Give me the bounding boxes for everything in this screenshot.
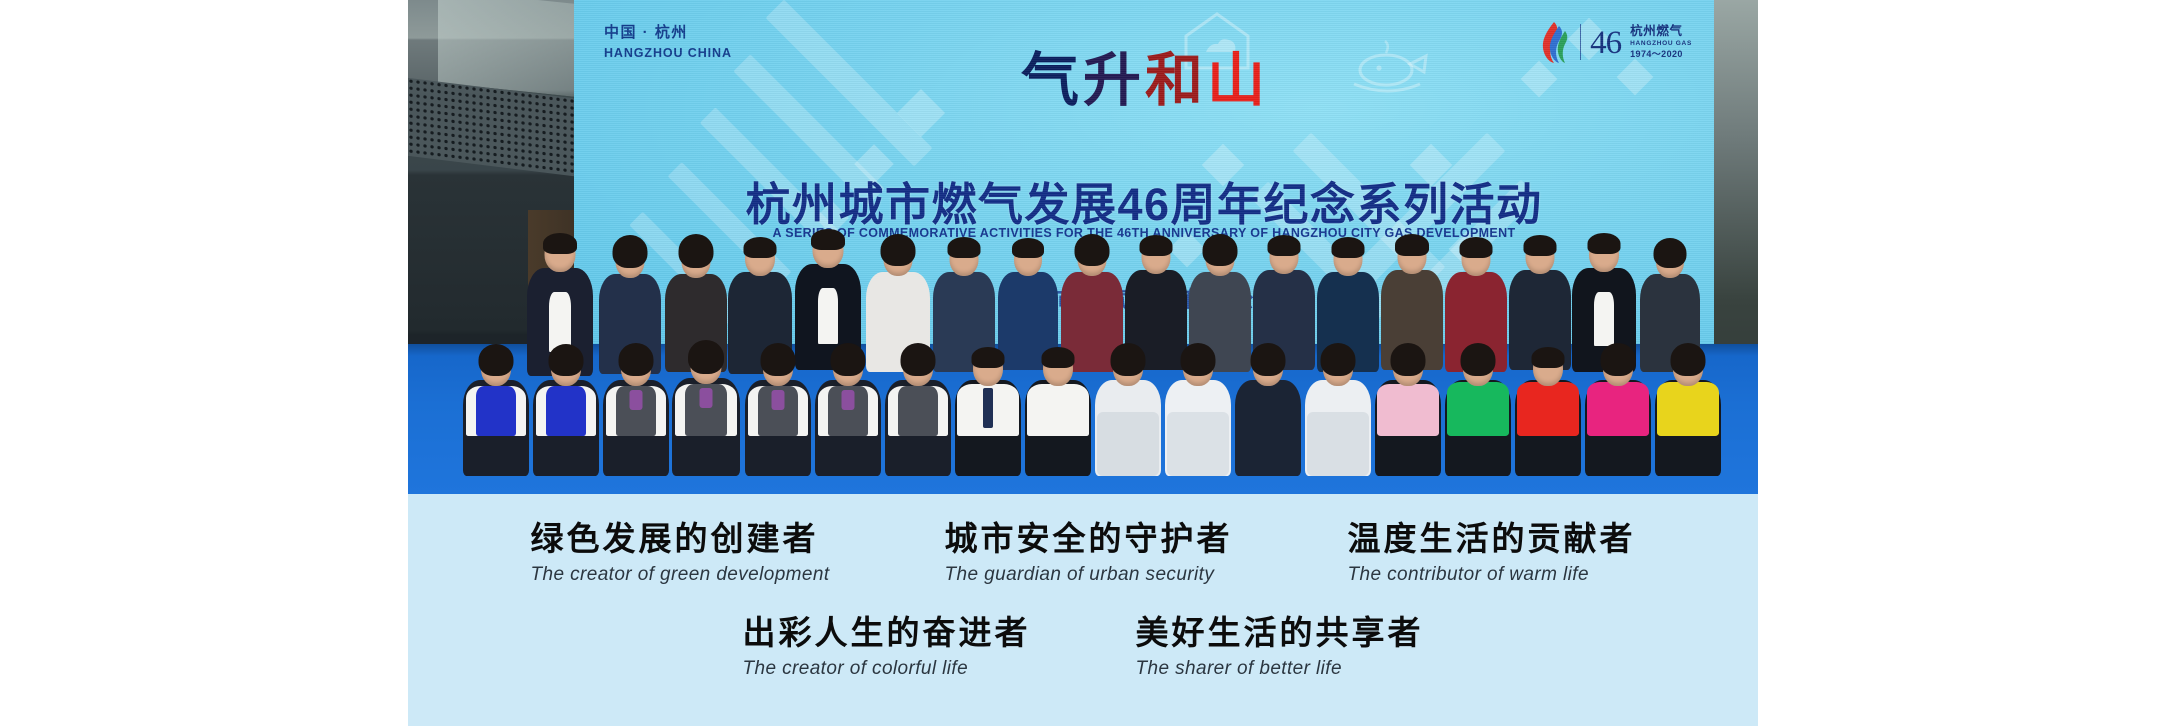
crowd-group bbox=[408, 134, 1758, 494]
slogan-cn: 温度生活的贡献者 bbox=[1348, 518, 1636, 559]
location-label: 中国 · 杭州 HANGZHOU CHINA bbox=[604, 22, 732, 62]
logo-company-en: HANGZHOU GAS bbox=[1630, 40, 1692, 48]
brand-word-char-3: 和 bbox=[1145, 52, 1205, 110]
slogan-cn: 出彩人生的奋进者 bbox=[743, 612, 1031, 653]
slogan-colorful-life: 出彩人生的奋进者 The creator of colorful life bbox=[743, 612, 1031, 680]
slogan-warm-life: 温度生活的贡献者 The contributor of warm life bbox=[1348, 518, 1636, 586]
anniversary-number: 46 bbox=[1590, 27, 1621, 60]
slogan-en: The creator of colorful life bbox=[743, 658, 1031, 680]
slogan-row-2: 出彩人生的奋进者 The creator of colorful life 美好… bbox=[408, 612, 1758, 680]
slogan-green-development: 绿色发展的创建者 The creator of green developmen… bbox=[530, 518, 829, 586]
slogan-panel: 绿色发展的创建者 The creator of green developmen… bbox=[408, 494, 1758, 726]
slogan-cn: 美好生活的共享者 bbox=[1136, 612, 1424, 653]
brand-word-char-4: 山 bbox=[1207, 52, 1267, 110]
logo-divider bbox=[1580, 24, 1581, 60]
commemorative-poster-panel: 中国 · 杭州 HANGZHOU CHINA 46 杭州燃气 HANGZHOU … bbox=[408, 0, 1758, 726]
slogan-en: The guardian of urban security bbox=[945, 564, 1233, 586]
boat-motif-icon bbox=[1346, 40, 1432, 102]
slogan-en: The contributor of warm life bbox=[1348, 564, 1636, 586]
page-root: 中国 · 杭州 HANGZHOU CHINA 46 杭州燃气 HANGZHOU … bbox=[0, 0, 2179, 726]
anniversary-logo-lockup: 46 杭州燃气 HANGZHOU GAS 1974～2020 bbox=[1537, 20, 1692, 64]
slogan-en: The creator of green development bbox=[530, 564, 829, 586]
slogan-cn: 城市安全的守护者 bbox=[945, 518, 1233, 559]
slogan-better-life: 美好生活的共享者 The sharer of better life bbox=[1136, 612, 1424, 680]
logo-wordmark: 杭州燃气 HANGZHOU GAS 1974～2020 bbox=[1630, 24, 1692, 60]
logo-year-range: 1974～2020 bbox=[1630, 49, 1692, 60]
location-label-en: HANGZHOU CHINA bbox=[604, 44, 732, 62]
location-label-cn: 中国 · 杭州 bbox=[604, 22, 732, 44]
brand-word-char-2: 升 bbox=[1083, 52, 1143, 110]
stylised-brand-word: 气 升 和 山 bbox=[1021, 52, 1267, 110]
flame-logo-icon bbox=[1537, 20, 1571, 64]
slogan-cn: 绿色发展的创建者 bbox=[530, 518, 829, 559]
slogan-urban-security: 城市安全的守护者 The guardian of urban security bbox=[945, 518, 1233, 586]
brand-word-char-1: 气 bbox=[1021, 52, 1081, 110]
group-photo: 中国 · 杭州 HANGZHOU CHINA 46 杭州燃气 HANGZHOU … bbox=[408, 0, 1758, 494]
logo-company-cn: 杭州燃气 bbox=[1630, 24, 1692, 40]
slogan-row-1: 绿色发展的创建者 The creator of green developmen… bbox=[408, 518, 1758, 586]
slogan-en: The sharer of better life bbox=[1136, 658, 1424, 680]
